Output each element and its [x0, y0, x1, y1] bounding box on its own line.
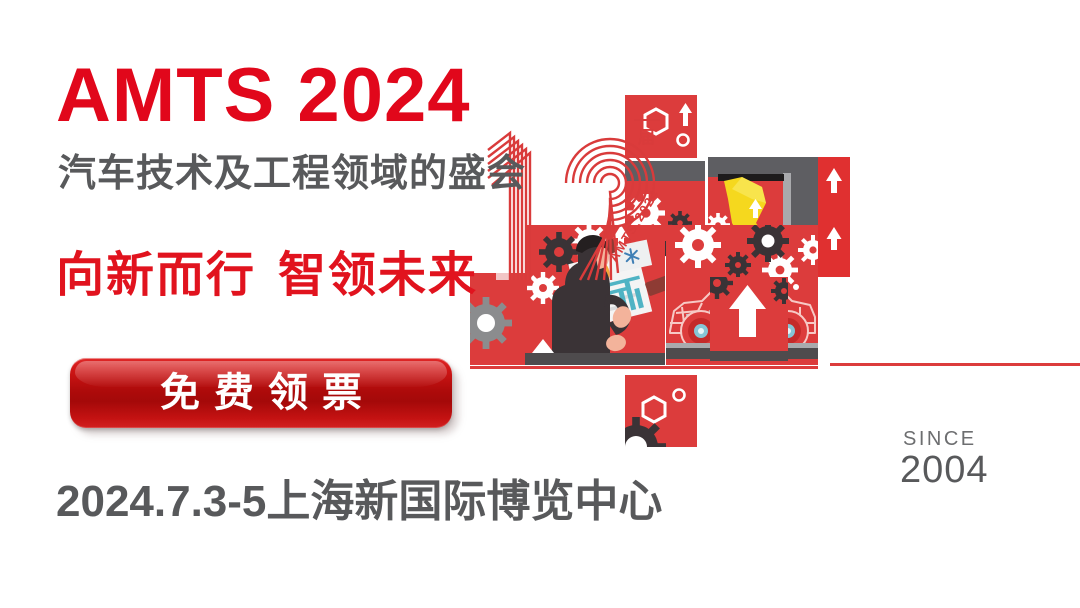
cta-container: 免费领票 [70, 358, 452, 430]
edition-suffix: 届 [638, 128, 655, 147]
event-date-venue: 2024.7.3-5上海新国际博览中心 [56, 480, 662, 524]
slogan: 向新而行智领未来 [56, 252, 478, 300]
page-title: AMTS 2024 [56, 58, 471, 134]
arrow-panel [701, 267, 797, 365]
since-label: SINCE [903, 428, 977, 451]
collage-baseline [470, 366, 818, 369]
page-subtitle: 汽车技术及工程领域的盛会 [58, 155, 526, 193]
free-ticket-button[interactable]: 免费领票 [70, 358, 452, 428]
slogan-part-2: 智领未来 [278, 249, 478, 302]
since-year: 2004 [900, 450, 989, 492]
amts-promo-banner: 届 AMTS 2024 SINCE 2004 AMTS 2024 汽车技术及工程… [0, 0, 1080, 608]
hexagon-panel-bottom [606, 375, 697, 477]
collage-baseline-right [830, 363, 1080, 366]
slogan-part-1: 向新而行 [56, 249, 256, 302]
